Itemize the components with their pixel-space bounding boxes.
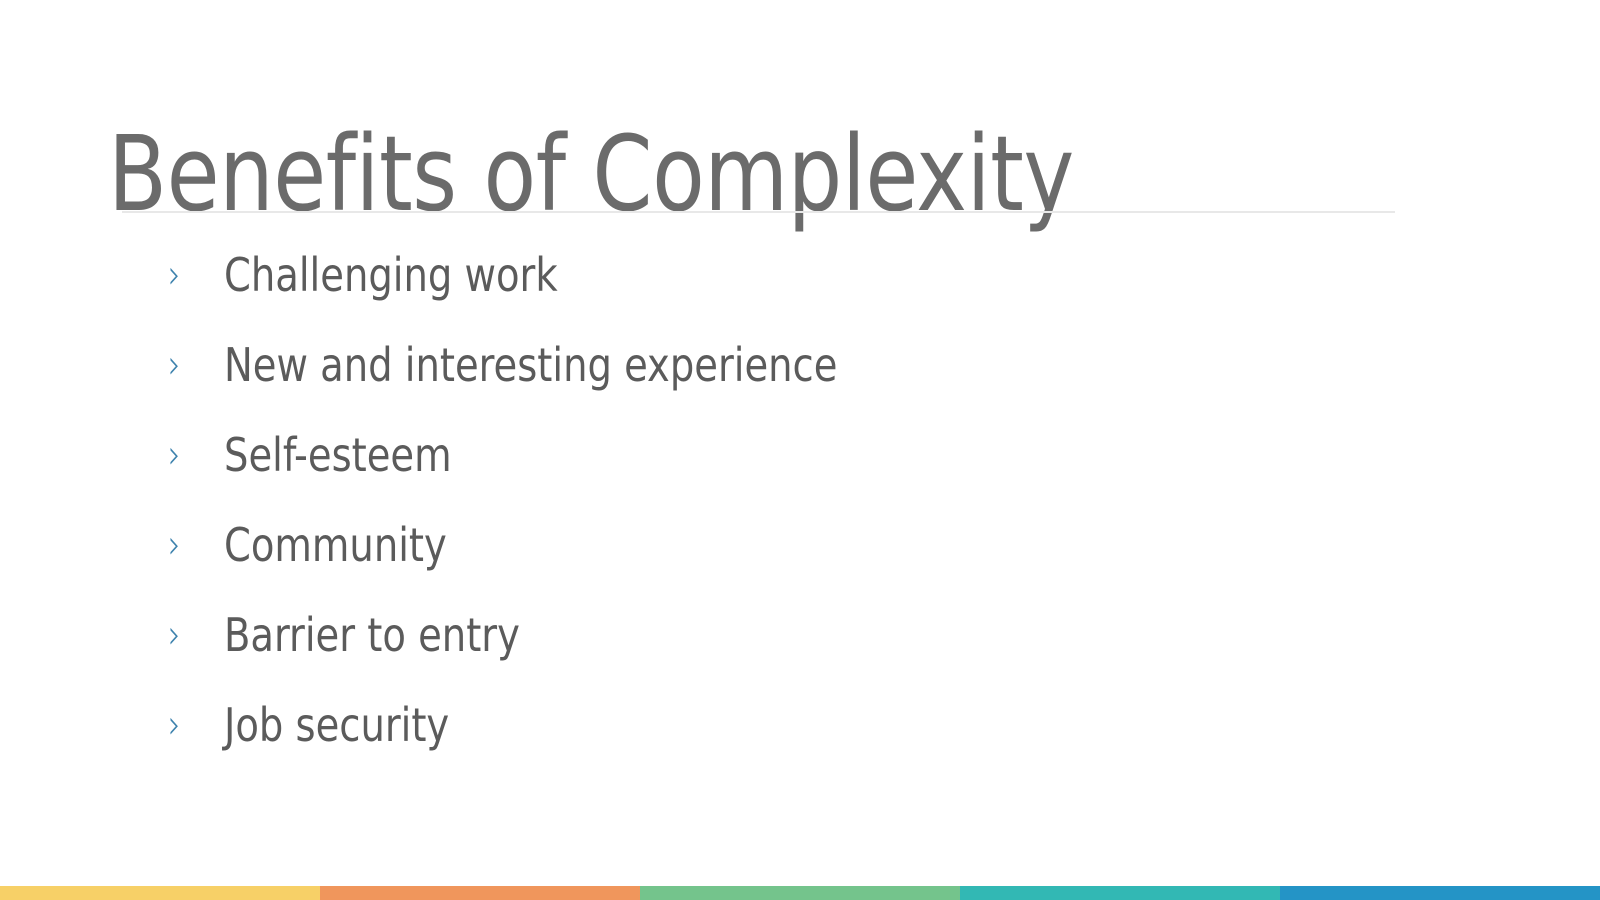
list-item-label: Self-esteem — [224, 426, 1316, 484]
footer-segment-orange — [320, 886, 640, 900]
chevron-right-icon: › — [168, 336, 213, 394]
chevron-right-icon: › — [168, 426, 213, 484]
footer-segment-blue — [1280, 886, 1600, 900]
footer-segment-yellow — [0, 886, 320, 900]
list-item: › Community — [168, 516, 1398, 606]
chevron-right-icon: › — [168, 246, 213, 304]
slide-canvas: Benefits of Complexity › Challenging wor… — [0, 0, 1600, 900]
chevron-right-icon: › — [168, 516, 213, 574]
list-item: › Self-esteem — [168, 426, 1398, 516]
footer-segment-green — [640, 886, 960, 900]
list-item-label: Job security — [224, 696, 1316, 754]
list-item-label: New and interesting experience — [224, 336, 1316, 394]
list-item-label: Barrier to entry — [224, 606, 1316, 664]
list-item: › Job security — [168, 696, 1398, 786]
footer-color-bar — [0, 886, 1600, 900]
page-title: Benefits of Complexity — [108, 108, 1322, 240]
bullet-list: › Challenging work › New and interesting… — [168, 246, 1398, 786]
title-divider — [122, 211, 1395, 213]
list-item-label: Challenging work — [224, 246, 1316, 304]
chevron-right-icon: › — [168, 606, 213, 664]
list-item-label: Community — [224, 516, 1316, 574]
list-item: › Challenging work — [168, 246, 1398, 336]
list-item: › Barrier to entry — [168, 606, 1398, 696]
list-item: › New and interesting experience — [168, 336, 1398, 426]
chevron-right-icon: › — [168, 696, 213, 754]
footer-segment-teal — [960, 886, 1280, 900]
